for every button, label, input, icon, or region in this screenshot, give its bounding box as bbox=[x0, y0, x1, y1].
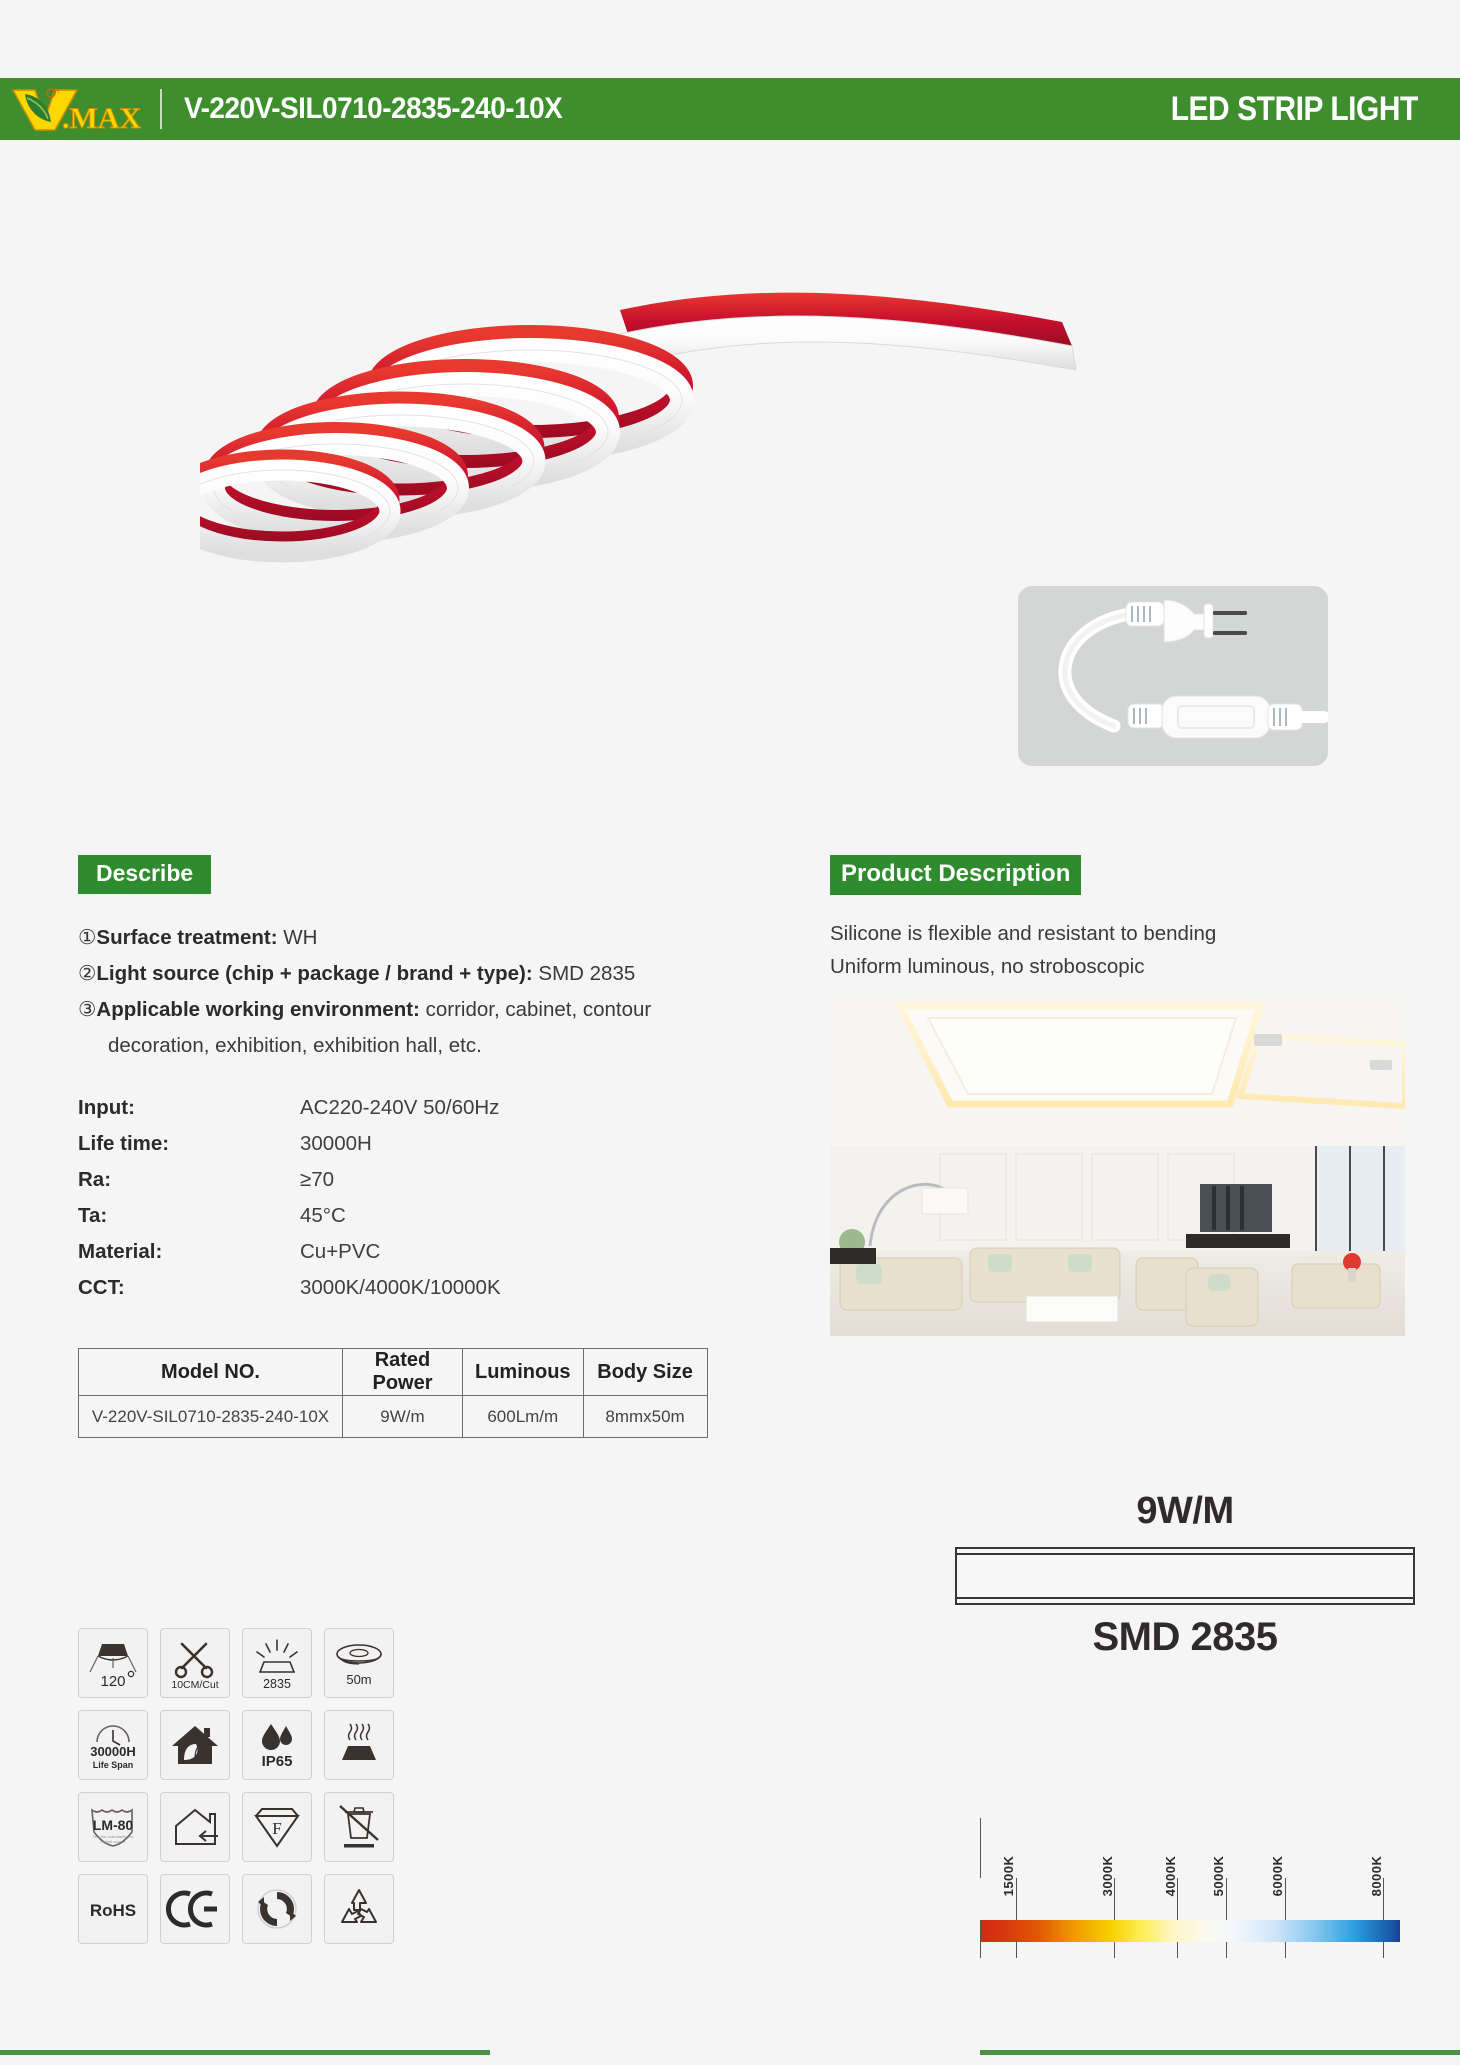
column-header-luminous: Luminous bbox=[463, 1349, 584, 1396]
chip-type-label: SMD 2835 bbox=[955, 1615, 1415, 1660]
product-description-text: Silicone is flexible and resistant to be… bbox=[830, 917, 1410, 983]
cct-tick-labels: 1500K 3000K 4000K 5000K 6000K 8000K bbox=[980, 1840, 1400, 1920]
spec-value: 3000K/4000K/10000K bbox=[300, 1270, 501, 1306]
describe-key: Applicable working environment: bbox=[96, 998, 420, 1021]
spec-key: Material: bbox=[78, 1234, 300, 1270]
describe-key: Light source (chip + package / brand + t… bbox=[96, 962, 532, 985]
header-divider bbox=[160, 89, 162, 129]
cct-tick-label: 1500K bbox=[1001, 1856, 1016, 1897]
cct-tick: 4000K bbox=[1177, 1878, 1178, 1920]
describe-marker: ① bbox=[78, 926, 96, 949]
cct-axis-tick bbox=[1226, 1942, 1227, 1958]
weee-bin-icon bbox=[324, 1792, 394, 1862]
cct-axis-tick bbox=[1383, 1942, 1384, 1958]
spec-row: Ta: 45°C bbox=[78, 1198, 738, 1234]
spec-value: Cu+PVC bbox=[300, 1234, 380, 1270]
header-model-title: V-220V-SIL0710-2835-240-10X bbox=[184, 92, 562, 126]
coiled-strip-illustration bbox=[200, 250, 1100, 580]
plug-illustration bbox=[1018, 586, 1328, 766]
cct-tick: 1500K bbox=[1016, 1878, 1017, 1920]
product-description-section: Product Description Silicone is flexible… bbox=[830, 855, 1410, 983]
spec-key: Ra: bbox=[78, 1162, 300, 1198]
pd-line: Uniform luminous, no stroboscopic bbox=[830, 950, 1410, 983]
beam-angle-icon: 120 bbox=[78, 1628, 148, 1698]
spec-key: Ta: bbox=[78, 1198, 300, 1234]
led-chip-icon: 2835 bbox=[242, 1628, 312, 1698]
application-photo bbox=[830, 996, 1405, 1336]
brand-logo: R .MAX bbox=[0, 78, 160, 140]
column-header-model: Model NO. bbox=[79, 1349, 343, 1396]
describe-value: WH bbox=[283, 926, 317, 949]
spec-value: 45°C bbox=[300, 1198, 346, 1234]
spec-row: Material: Cu+PVC bbox=[78, 1234, 738, 1270]
model-table: Model NO. Rated Power Luminous Body Size… bbox=[78, 1348, 708, 1438]
power-plug-image bbox=[1018, 586, 1328, 766]
describe-marker: ③ bbox=[78, 998, 96, 1021]
svg-text:.MAX: .MAX bbox=[62, 102, 141, 134]
f-mark-icon: F bbox=[242, 1792, 312, 1862]
svg-text:of light source: of light source bbox=[101, 1839, 127, 1844]
svg-text:30000H: 30000H bbox=[90, 1744, 136, 1759]
lifespan-icon: 30000H Life Span bbox=[78, 1710, 148, 1780]
describe-value: corridor, cabinet, contour bbox=[426, 998, 652, 1021]
waterproof-icon: IP65 bbox=[242, 1710, 312, 1780]
spec-value: ≥70 bbox=[300, 1162, 334, 1198]
cct-gradient-bar bbox=[980, 1920, 1400, 1942]
svg-text:R: R bbox=[55, 89, 60, 95]
cct-axis-tick bbox=[1114, 1942, 1115, 1958]
describe-key: Surface treatment: bbox=[96, 926, 277, 949]
pd-line: Silicone is flexible and resistant to be… bbox=[830, 917, 1410, 950]
cct-axis-tick bbox=[1285, 1942, 1286, 1958]
svg-text:F: F bbox=[272, 1819, 281, 1838]
spec-key: CCT: bbox=[78, 1270, 300, 1306]
spec-value: AC220-240V 50/60Hz bbox=[300, 1090, 499, 1126]
svg-text:120: 120 bbox=[100, 1673, 125, 1690]
reel-length-icon: 50m bbox=[324, 1628, 394, 1698]
cell-power: 9W/m bbox=[343, 1396, 463, 1438]
spec-row: Ra: ≥70 bbox=[78, 1162, 738, 1198]
product-description-label: Product Description bbox=[830, 855, 1081, 895]
spec-key: Input: bbox=[78, 1090, 300, 1126]
spec-row: Life time: 30000H bbox=[78, 1126, 738, 1162]
table-header-row: Model NO. Rated Power Luminous Body Size bbox=[79, 1349, 708, 1396]
power-rating-label: 9W/M bbox=[955, 1490, 1415, 1533]
describe-section: Describe ①Surface treatment: WH ②Light s… bbox=[78, 855, 738, 1306]
page-header: R .MAX V-220V-SIL0710-2835-240-10X LED S… bbox=[0, 78, 1460, 140]
describe-item: ①Surface treatment: WH bbox=[78, 920, 738, 956]
svg-text:10CM/Cut: 10CM/Cut bbox=[171, 1679, 218, 1691]
footer-rule-left bbox=[0, 2050, 490, 2055]
living-room-illustration bbox=[830, 996, 1405, 1336]
heat-dissipation-icon bbox=[324, 1710, 394, 1780]
cct-tick: 8000K bbox=[1383, 1878, 1384, 1920]
cct-tick: 3000K bbox=[1114, 1878, 1115, 1920]
column-header-power: Rated Power bbox=[343, 1349, 463, 1396]
lm80-icon: LM-80 Test the manufacturers of light so… bbox=[78, 1792, 148, 1862]
spec-value: 30000H bbox=[300, 1126, 372, 1162]
indoor-use-icon bbox=[160, 1792, 230, 1862]
cct-axis-tick bbox=[1177, 1942, 1178, 1958]
footer-rule-right bbox=[980, 2050, 1460, 2055]
cct-tick-label: 4000K bbox=[1163, 1856, 1178, 1897]
cct-axis bbox=[980, 1942, 1400, 1958]
spec-row: CCT: 3000K/4000K/10000K bbox=[78, 1270, 738, 1306]
table-row: V-220V-SIL0710-2835-240-10X 9W/m 600Lm/m… bbox=[79, 1396, 708, 1438]
svg-text:IP65: IP65 bbox=[262, 1753, 293, 1770]
describe-item: ③Applicable working environment: corrido… bbox=[78, 992, 738, 1028]
describe-item: ②Light source (chip + package / brand + … bbox=[78, 956, 738, 992]
cct-scale-start-marker bbox=[980, 1818, 981, 1878]
cct-tick-label: 8000K bbox=[1369, 1856, 1384, 1897]
svg-text:Life Span: Life Span bbox=[93, 1760, 134, 1770]
spec-key: Life time: bbox=[78, 1126, 300, 1162]
svg-text:2835: 2835 bbox=[263, 1677, 291, 1691]
cell-model: V-220V-SIL0710-2835-240-10X bbox=[79, 1396, 343, 1438]
cct-axis-tick bbox=[980, 1942, 981, 1958]
svg-text:50m: 50m bbox=[346, 1672, 371, 1687]
vmax-logo-icon: R .MAX bbox=[5, 84, 155, 134]
spec-list: Input: AC220-240V 50/60Hz Life time: 300… bbox=[78, 1090, 738, 1306]
cct-tick-label: 5000K bbox=[1211, 1856, 1226, 1897]
cct-tick: 5000K bbox=[1226, 1878, 1227, 1920]
describe-list: ①Surface treatment: WH ②Light source (ch… bbox=[78, 920, 738, 1064]
svg-text:LM-80: LM-80 bbox=[93, 1817, 134, 1833]
certification-icon-grid: 120 10CM/Cut 2835 bbox=[78, 1628, 394, 1944]
green-dot-icon bbox=[242, 1874, 312, 1944]
cct-axis-tick bbox=[1016, 1942, 1017, 1958]
describe-marker: ② bbox=[78, 962, 96, 985]
cct-tick-label: 3000K bbox=[1100, 1856, 1115, 1897]
spec-row: Input: AC220-240V 50/60Hz bbox=[78, 1090, 738, 1126]
ce-mark-icon bbox=[160, 1874, 230, 1944]
describe-value: SMD 2835 bbox=[538, 962, 635, 985]
svg-text:RoHS: RoHS bbox=[90, 1901, 136, 1920]
column-header-bodysize: Body Size bbox=[583, 1349, 707, 1396]
describe-label: Describe bbox=[78, 855, 211, 894]
cct-tick-label: 6000K bbox=[1270, 1856, 1285, 1897]
hero-product-image bbox=[0, 150, 1460, 610]
header-category: LED STRIP LIGHT bbox=[1171, 90, 1418, 129]
cct-scale: 1500K 3000K 4000K 5000K 6000K 8000K bbox=[980, 1840, 1400, 1958]
cell-luminous: 600Lm/m bbox=[463, 1396, 584, 1438]
describe-continuation: decoration, exhibition, exhibition hall,… bbox=[78, 1028, 738, 1064]
rohs-icon: RoHS bbox=[78, 1874, 148, 1944]
strip-cross-section-diagram bbox=[955, 1547, 1415, 1605]
cct-tick: 6000K bbox=[1285, 1878, 1286, 1920]
power-spec-panel: 9W/M SMD 2835 bbox=[955, 1490, 1415, 1660]
scissors-cut-icon: 10CM/Cut bbox=[160, 1628, 230, 1698]
recycle-icon bbox=[324, 1874, 394, 1944]
eco-house-icon bbox=[160, 1710, 230, 1780]
cell-bodysize: 8mmx50m bbox=[583, 1396, 707, 1438]
